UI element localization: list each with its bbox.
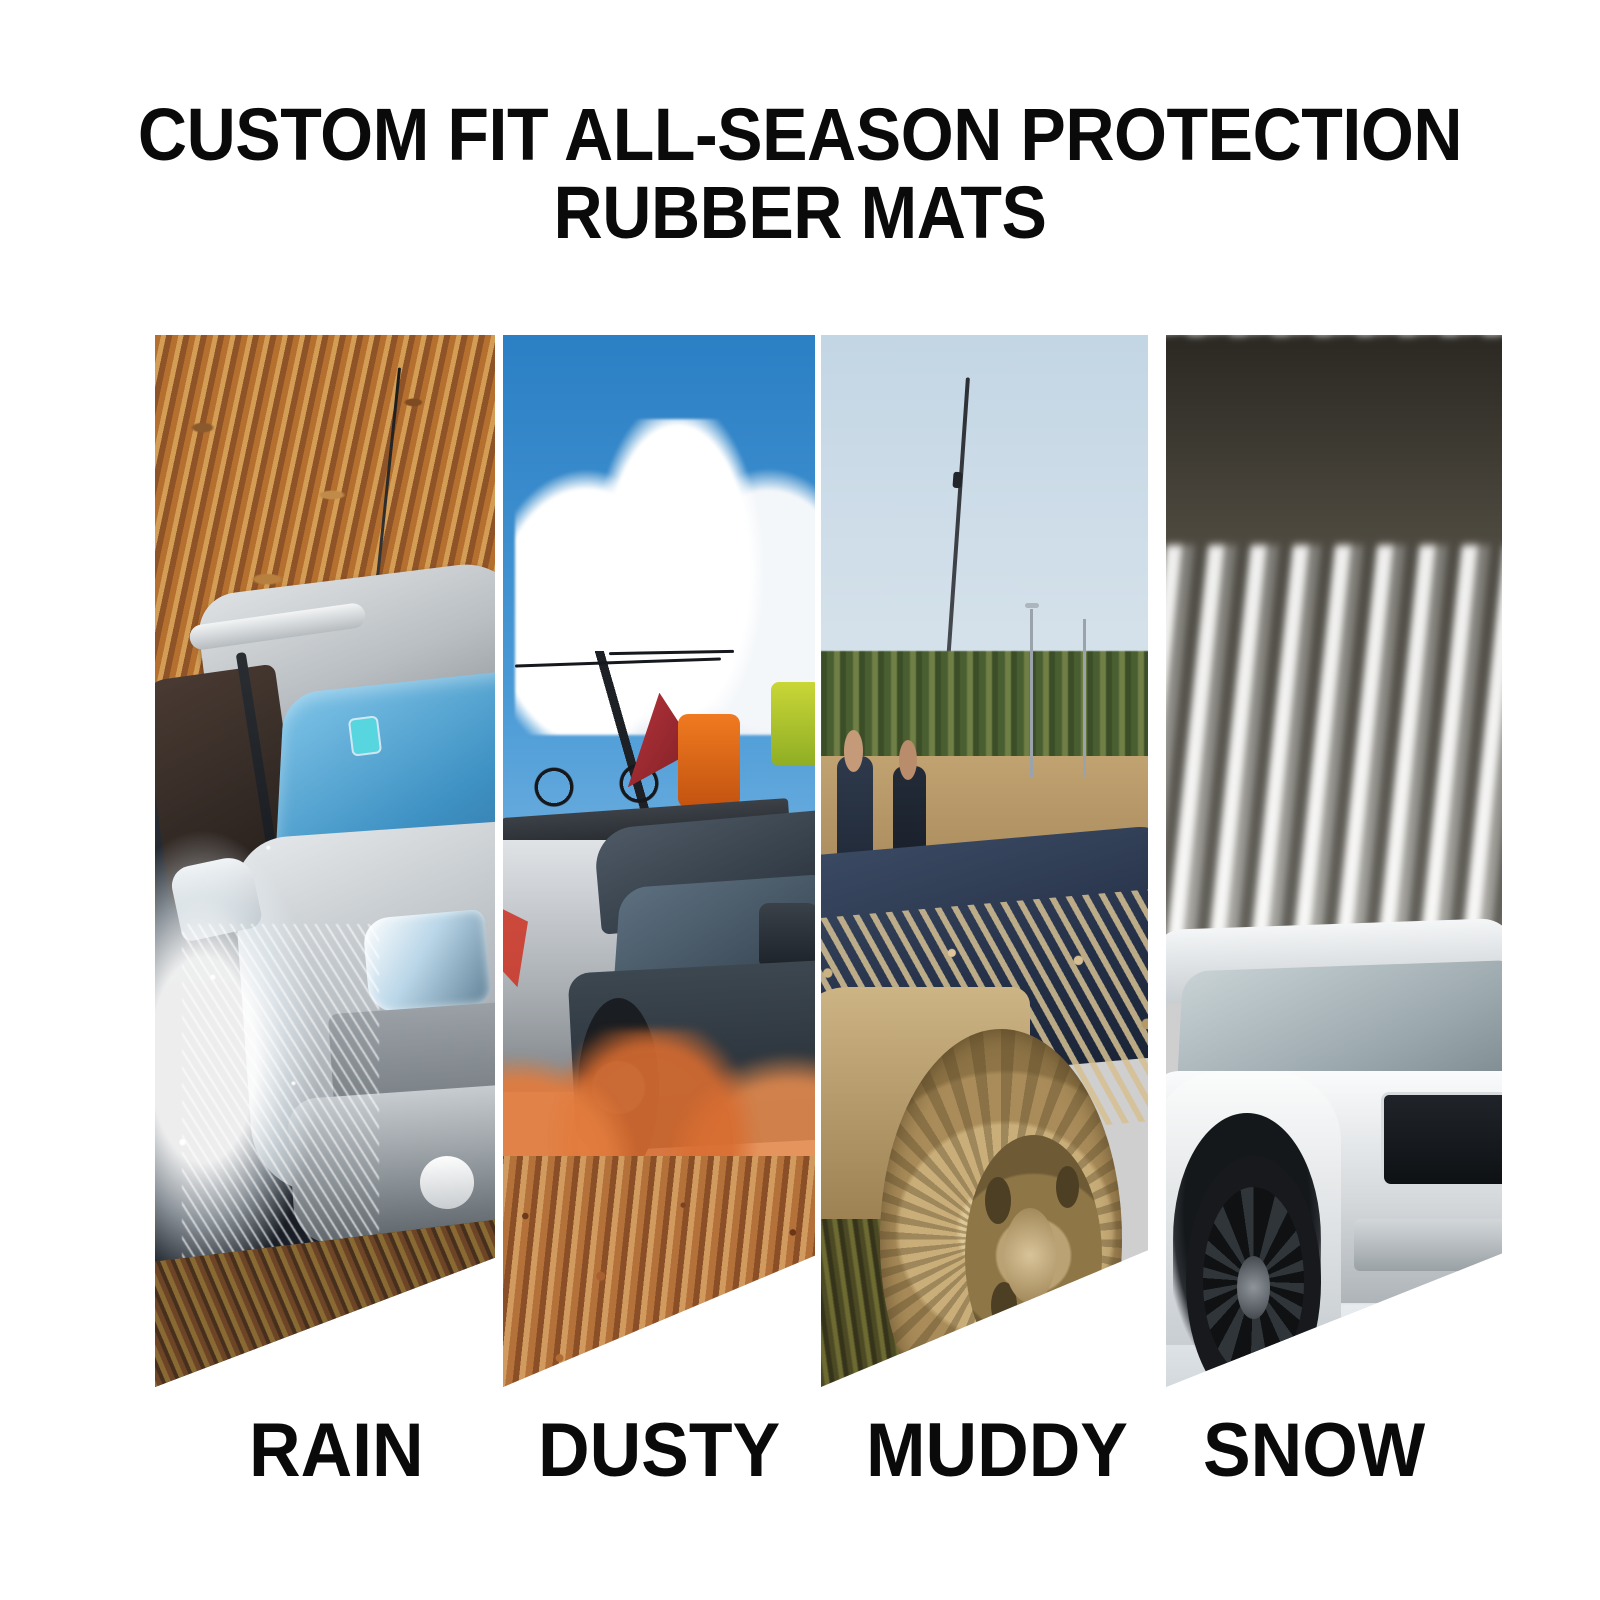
wheel-hub-cap: [1004, 1208, 1056, 1303]
rim-opening-one: [985, 1177, 1011, 1224]
product-marketing-banner: { "headline": { "line1": "CUSTOM FIT ALL…: [0, 0, 1600, 1600]
condition-labels: RAIN DUSTY MUDDY SNOW: [0, 1408, 1600, 1518]
condition-panel-strip: [0, 0, 1600, 1600]
bystander-one-head: [844, 730, 864, 772]
wheel-center-cap: [1237, 1256, 1271, 1319]
label-muddy: MUDDY: [866, 1408, 1128, 1494]
windshield-sticker: [350, 718, 380, 755]
lower-body-trim: [1354, 1219, 1502, 1272]
orange-gear-bag: [678, 714, 740, 809]
dusty-scene-image: [503, 335, 815, 1387]
headlight: [362, 908, 492, 1013]
label-snow: SNOW: [1203, 1408, 1425, 1494]
label-dusty: DUSTY: [538, 1408, 780, 1494]
panel-rain: [155, 335, 495, 1387]
suv-side-mirror: [759, 903, 815, 966]
panel-muddy: [821, 335, 1148, 1387]
light-pole-right: [1083, 619, 1086, 777]
street-lamp-head: [1025, 603, 1039, 608]
lower-air-intake: [1381, 1092, 1502, 1187]
snow-scene-image: [1166, 335, 1502, 1387]
light-pole-left: [1030, 609, 1033, 777]
antenna-coil: [953, 471, 963, 488]
rain-scene-image: [155, 335, 495, 1387]
label-rain: RAIN: [249, 1408, 424, 1494]
panel-snow: [1166, 335, 1502, 1387]
red-gravel-ground: [503, 1156, 815, 1387]
panel-dusty: [503, 335, 815, 1387]
muddy-scene-image: [821, 335, 1148, 1387]
green-gear-bag: [771, 682, 815, 766]
dark-treeline-blur: [1166, 335, 1502, 545]
